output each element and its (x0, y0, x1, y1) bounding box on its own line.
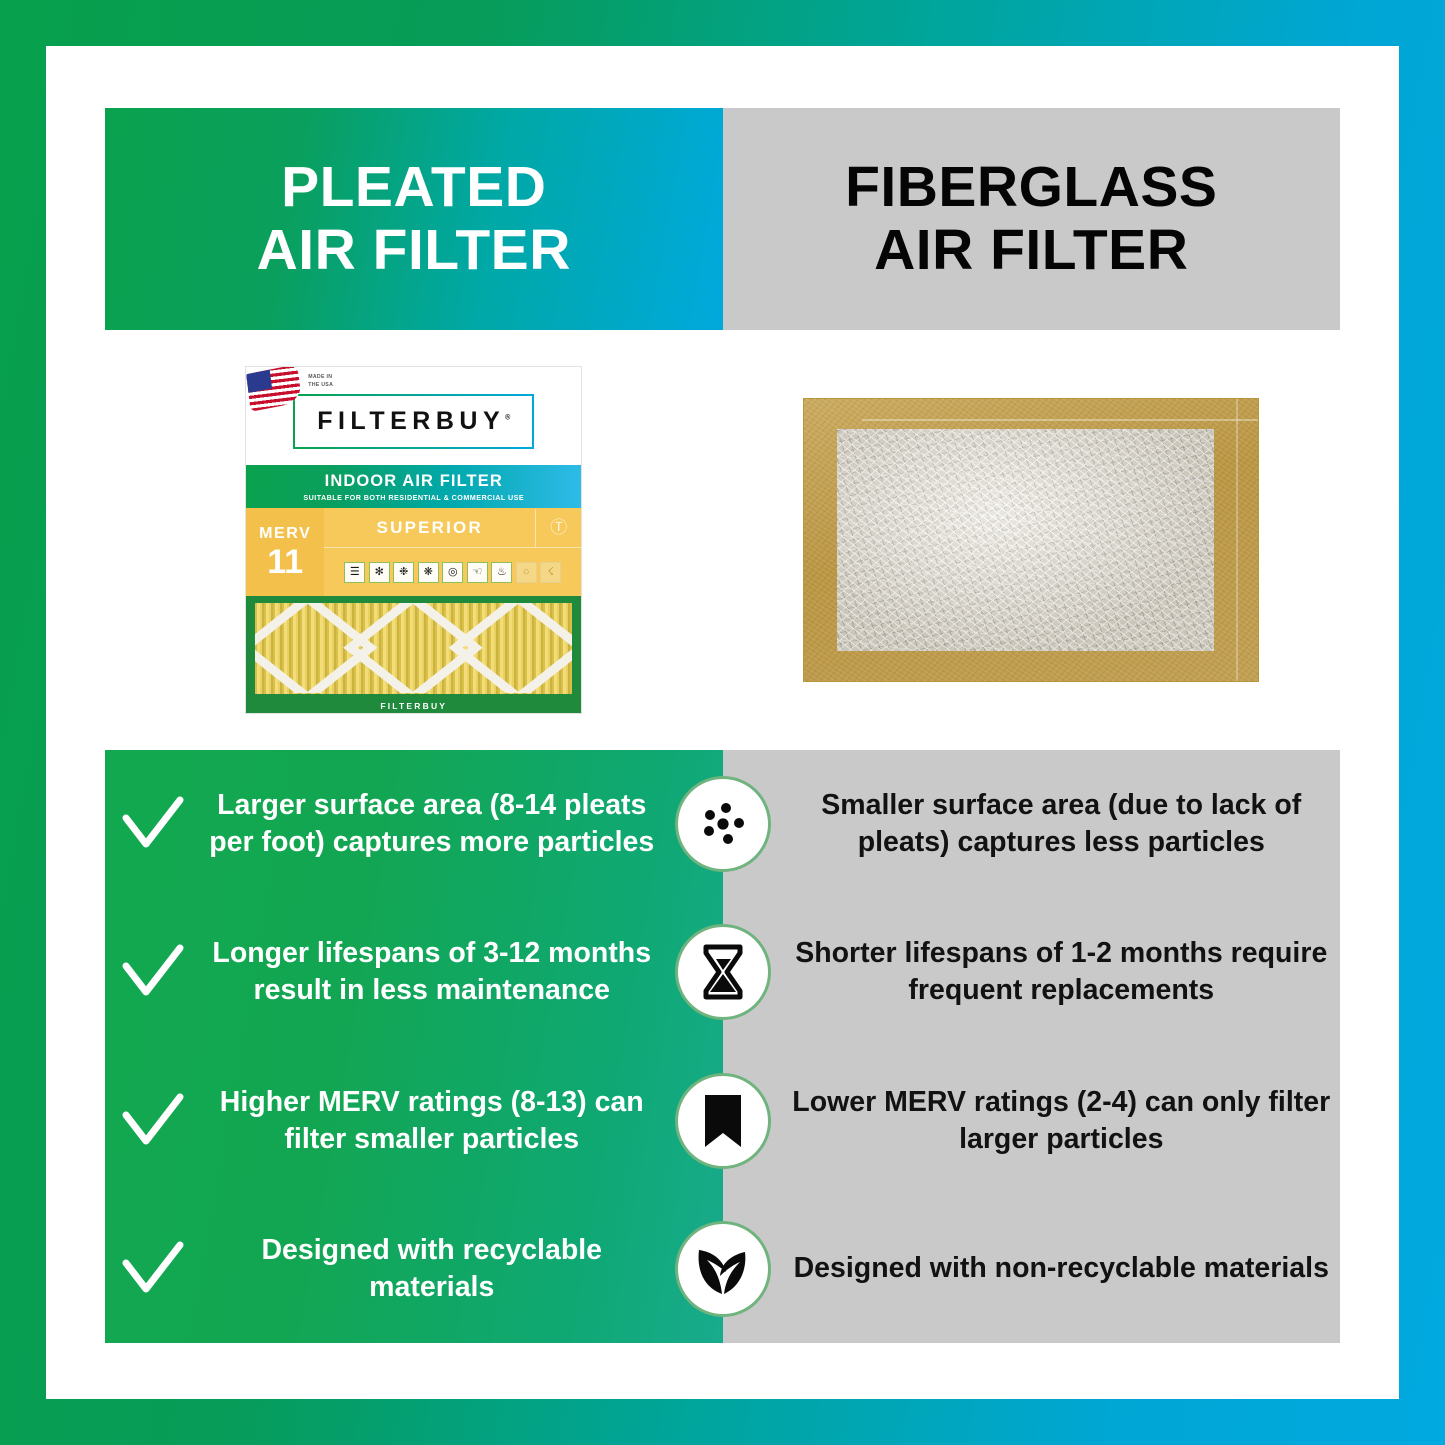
header-pleated-line2: AIR FILTER (257, 219, 571, 282)
row-left-text: Higher MERV ratings (8-13) can filter sm… (201, 1084, 663, 1158)
box-pleat-window: FILTERBUY (246, 596, 581, 713)
box-merv-section: MERV 11 SUPERIOR Ⓣ ☰ ✻ ❉ (246, 508, 581, 596)
brand-name: FILTERBUY® (317, 407, 510, 436)
row-right-cell: Designed with non-recyclable materials (723, 1250, 1341, 1287)
mold-spore-icon: ❋ (418, 562, 439, 583)
content-area: PLEATED AIR FILTER FIBERGLASS AIR FILTER (105, 108, 1340, 1343)
fiberglass-filter-image (803, 398, 1259, 682)
brand-trademark: ® (505, 414, 510, 421)
header-fiberglass: FIBERGLASS AIR FILTER (723, 108, 1341, 330)
box-indoor-band: INDOOR AIR FILTER SUITABLE FOR BOTH RESI… (246, 465, 581, 508)
merv-label: MERV (259, 526, 311, 542)
product-images-band: MADE IN THE USA FILTERBUY® INDOOR AIR FI… (105, 330, 1340, 750)
row-right-text: Shorter lifespans of 1-2 months require … (783, 935, 1341, 1009)
pollen-icon: ❉ (393, 562, 414, 583)
pet-dander-icon: ☜ (467, 562, 488, 583)
row-right-text: Lower MERV ratings (2-4) can only filter… (783, 1084, 1341, 1158)
checkmark-icon (105, 1241, 201, 1297)
infographic-poster: PLEATED AIR FILTER FIBERGLASS AIR FILTER (0, 0, 1445, 1445)
comparison-row: Larger surface area (8-14 pleats per foo… (105, 750, 1340, 898)
box-band-main: INDOOR AIR FILTER (325, 472, 503, 491)
row-right-cell: Shorter lifespans of 1-2 months require … (723, 935, 1341, 1009)
row-left-cell: Higher MERV ratings (8-13) can filter sm… (105, 1084, 723, 1158)
bacteria-icon: ◎ (442, 562, 463, 583)
row-left-text: Designed with recyclable materials (201, 1232, 663, 1306)
row-right-cell: Smaller surface area (due to lack of ple… (723, 787, 1341, 861)
row-left-cell: Longer lifespans of 3-12 months result i… (105, 935, 723, 1009)
header-pleated-line1: PLEATED (257, 156, 571, 219)
pill-icon: ○ (516, 562, 537, 583)
hourglass-icon (675, 924, 771, 1020)
merv-value: 11 (267, 545, 303, 579)
brand-frame: FILTERBUY® (293, 394, 534, 449)
leaf-eco-icon (675, 1221, 771, 1317)
row-left-text: Larger surface area (8-14 pleats per foo… (201, 787, 663, 861)
particles-dots-icon (675, 776, 771, 872)
odor-icon: ☇ (540, 562, 561, 583)
comparison-row: Higher MERV ratings (8-13) can filter sm… (105, 1047, 1340, 1195)
made-in-usa-label: MADE IN THE USA (308, 374, 333, 390)
pleated-product-cell: MADE IN THE USA FILTERBUY® INDOOR AIR FI… (105, 366, 723, 714)
grade-row: SUPERIOR Ⓣ (324, 508, 581, 548)
row-left-text: Longer lifespans of 3-12 months result i… (201, 935, 663, 1009)
grade-label: SUPERIOR (324, 518, 535, 538)
checkmark-icon (105, 944, 201, 1000)
merv-badge: MERV 11 (246, 508, 324, 596)
fiberglass-product-cell (723, 398, 1341, 682)
pleat-media (255, 603, 572, 694)
bookmark-ribbon-icon (675, 1073, 771, 1169)
comparison-table: Larger surface area (8-14 pleats per foo… (105, 750, 1340, 1343)
header-fiberglass-line1: FIBERGLASS (845, 156, 1217, 219)
insect-icon: ✻ (369, 562, 390, 583)
filterbuy-product-box: MADE IN THE USA FILTERBUY® INDOOR AIR FI… (245, 366, 582, 714)
row-left-cell: Designed with recyclable materials (105, 1232, 723, 1306)
row-left-cell: Larger surface area (8-14 pleats per foo… (105, 787, 723, 861)
header-pleated: PLEATED AIR FILTER (105, 108, 723, 330)
checkmark-icon (105, 796, 201, 852)
header-banners: PLEATED AIR FILTER FIBERGLASS AIR FILTER (105, 108, 1340, 330)
header-fiberglass-line2: AIR FILTER (845, 219, 1217, 282)
brand-name-text: FILTERBUY (317, 407, 505, 435)
smoke-icon: ♨ (491, 562, 512, 583)
frame-seam-top (862, 419, 1258, 421)
row-right-cell: Lower MERV ratings (2-4) can only filter… (723, 1084, 1341, 1158)
fiberglass-mesh-media (837, 429, 1214, 651)
capability-icon-row: ☰ ✻ ❉ ❋ ◎ ☜ ♨ ○ ☇ (324, 548, 581, 596)
merv-details: SUPERIOR Ⓣ ☰ ✻ ❉ ❋ ◎ ☜ ♨ ○ (324, 508, 581, 596)
made-in-line1: MADE IN (308, 374, 333, 382)
checkmark-icon (105, 1093, 201, 1149)
comparison-row: Designed with recyclable materials Desig… (105, 1195, 1340, 1343)
frame-seam-right (1236, 399, 1238, 681)
box-footer-brand: FILTERBUY (246, 701, 581, 711)
row-right-text: Smaller surface area (due to lack of ple… (783, 787, 1341, 861)
box-brand-header: MADE IN THE USA FILTERBUY® (246, 367, 581, 465)
made-in-line2: THE USA (308, 382, 333, 390)
ul-certification-icon: Ⓣ (535, 509, 581, 547)
comparison-row: Longer lifespans of 3-12 months result i… (105, 898, 1340, 1046)
header-fiberglass-title: FIBERGLASS AIR FILTER (845, 156, 1217, 281)
box-band-sub: SUITABLE FOR BOTH RESIDENTIAL & COMMERCI… (303, 493, 524, 502)
header-pleated-title: PLEATED AIR FILTER (257, 156, 571, 281)
row-right-text: Designed with non-recyclable materials (783, 1250, 1341, 1287)
dust-mop-icon: ☰ (344, 562, 365, 583)
diamond-support-grid-icon (255, 603, 572, 693)
